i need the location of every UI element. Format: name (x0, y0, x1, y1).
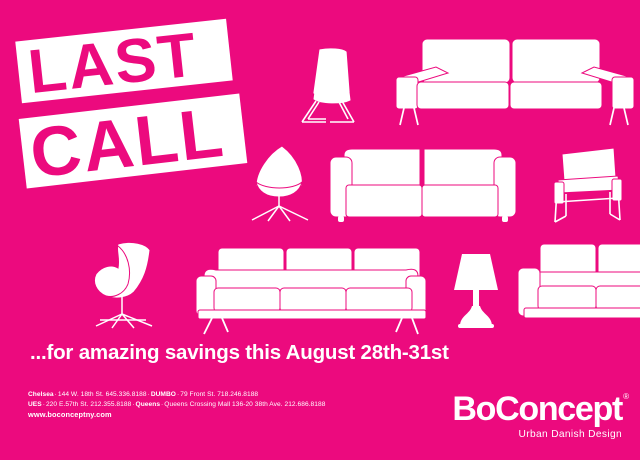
banner-call-text: CALL (27, 97, 228, 189)
store-directory: Chelsea·144 W. 18th St. 645.336.8188·DUM… (28, 390, 448, 419)
logo-wordmark-text: BoConcept (452, 390, 622, 428)
right-sofa-illustration (514, 242, 640, 328)
store-phone-chelsea: 645.336.8188 (106, 391, 147, 398)
store-name-dumbo: DUMBO (151, 391, 176, 398)
store-name-ues: UES (28, 401, 42, 408)
wing-swivel-chair-illustration (88, 240, 170, 332)
banner-call: CALL (19, 93, 248, 188)
store-phone-queens: 212.686.8188 (284, 401, 325, 408)
website-link[interactable]: www.boconceptny.com (28, 410, 448, 420)
two-seat-sofa-illustration (390, 37, 640, 129)
armchair-illustration (550, 146, 626, 226)
footer: Chelsea·144 W. 18th St. 645.336.8188·DUM… (0, 386, 640, 460)
headline-text: ...for amazing savings this August 28th-… (30, 341, 449, 365)
logo-wordmark: BoConcept ® (452, 392, 622, 426)
store-name-chelsea: Chelsea (28, 391, 54, 398)
three-seat-sofa-illustration (190, 246, 432, 336)
banner-last: LAST (15, 19, 232, 104)
store-phone-ues: 212.355.8188 (90, 401, 131, 408)
store-address-dumbo: 79 Front St. (180, 391, 215, 398)
dining-chair-illustration (296, 48, 366, 126)
store-phone-dumbo: 718.246.8188 (217, 391, 258, 398)
banner-last-text: LAST (25, 24, 201, 104)
boconcept-logo: BoConcept ® Urban Danish Design (452, 392, 622, 440)
last-call-burst: LAST CALL (0, 0, 300, 210)
store-name-queens: Queens (136, 401, 161, 408)
table-lamp-illustration (452, 252, 500, 330)
registered-trademark-icon: ® (623, 393, 629, 401)
store-address-queens: Queens Crossing Mall 136-20 38th Ave. (164, 401, 282, 408)
store-line-2: UES·220 E.57th St. 212.355.8188·Queens·Q… (28, 400, 448, 410)
store-address-ues: 220 E.57th St. (46, 401, 89, 408)
store-address-chelsea: 144 W. 18th St. (58, 391, 104, 398)
store-line-1: Chelsea·144 W. 18th St. 645.336.8188·DUM… (28, 390, 448, 400)
modular-sofa-illustration (324, 147, 522, 227)
advertisement-canvas: LAST CALL ...for amazing savings this Au… (0, 0, 640, 460)
logo-tagline: Urban Danish Design (452, 429, 622, 440)
